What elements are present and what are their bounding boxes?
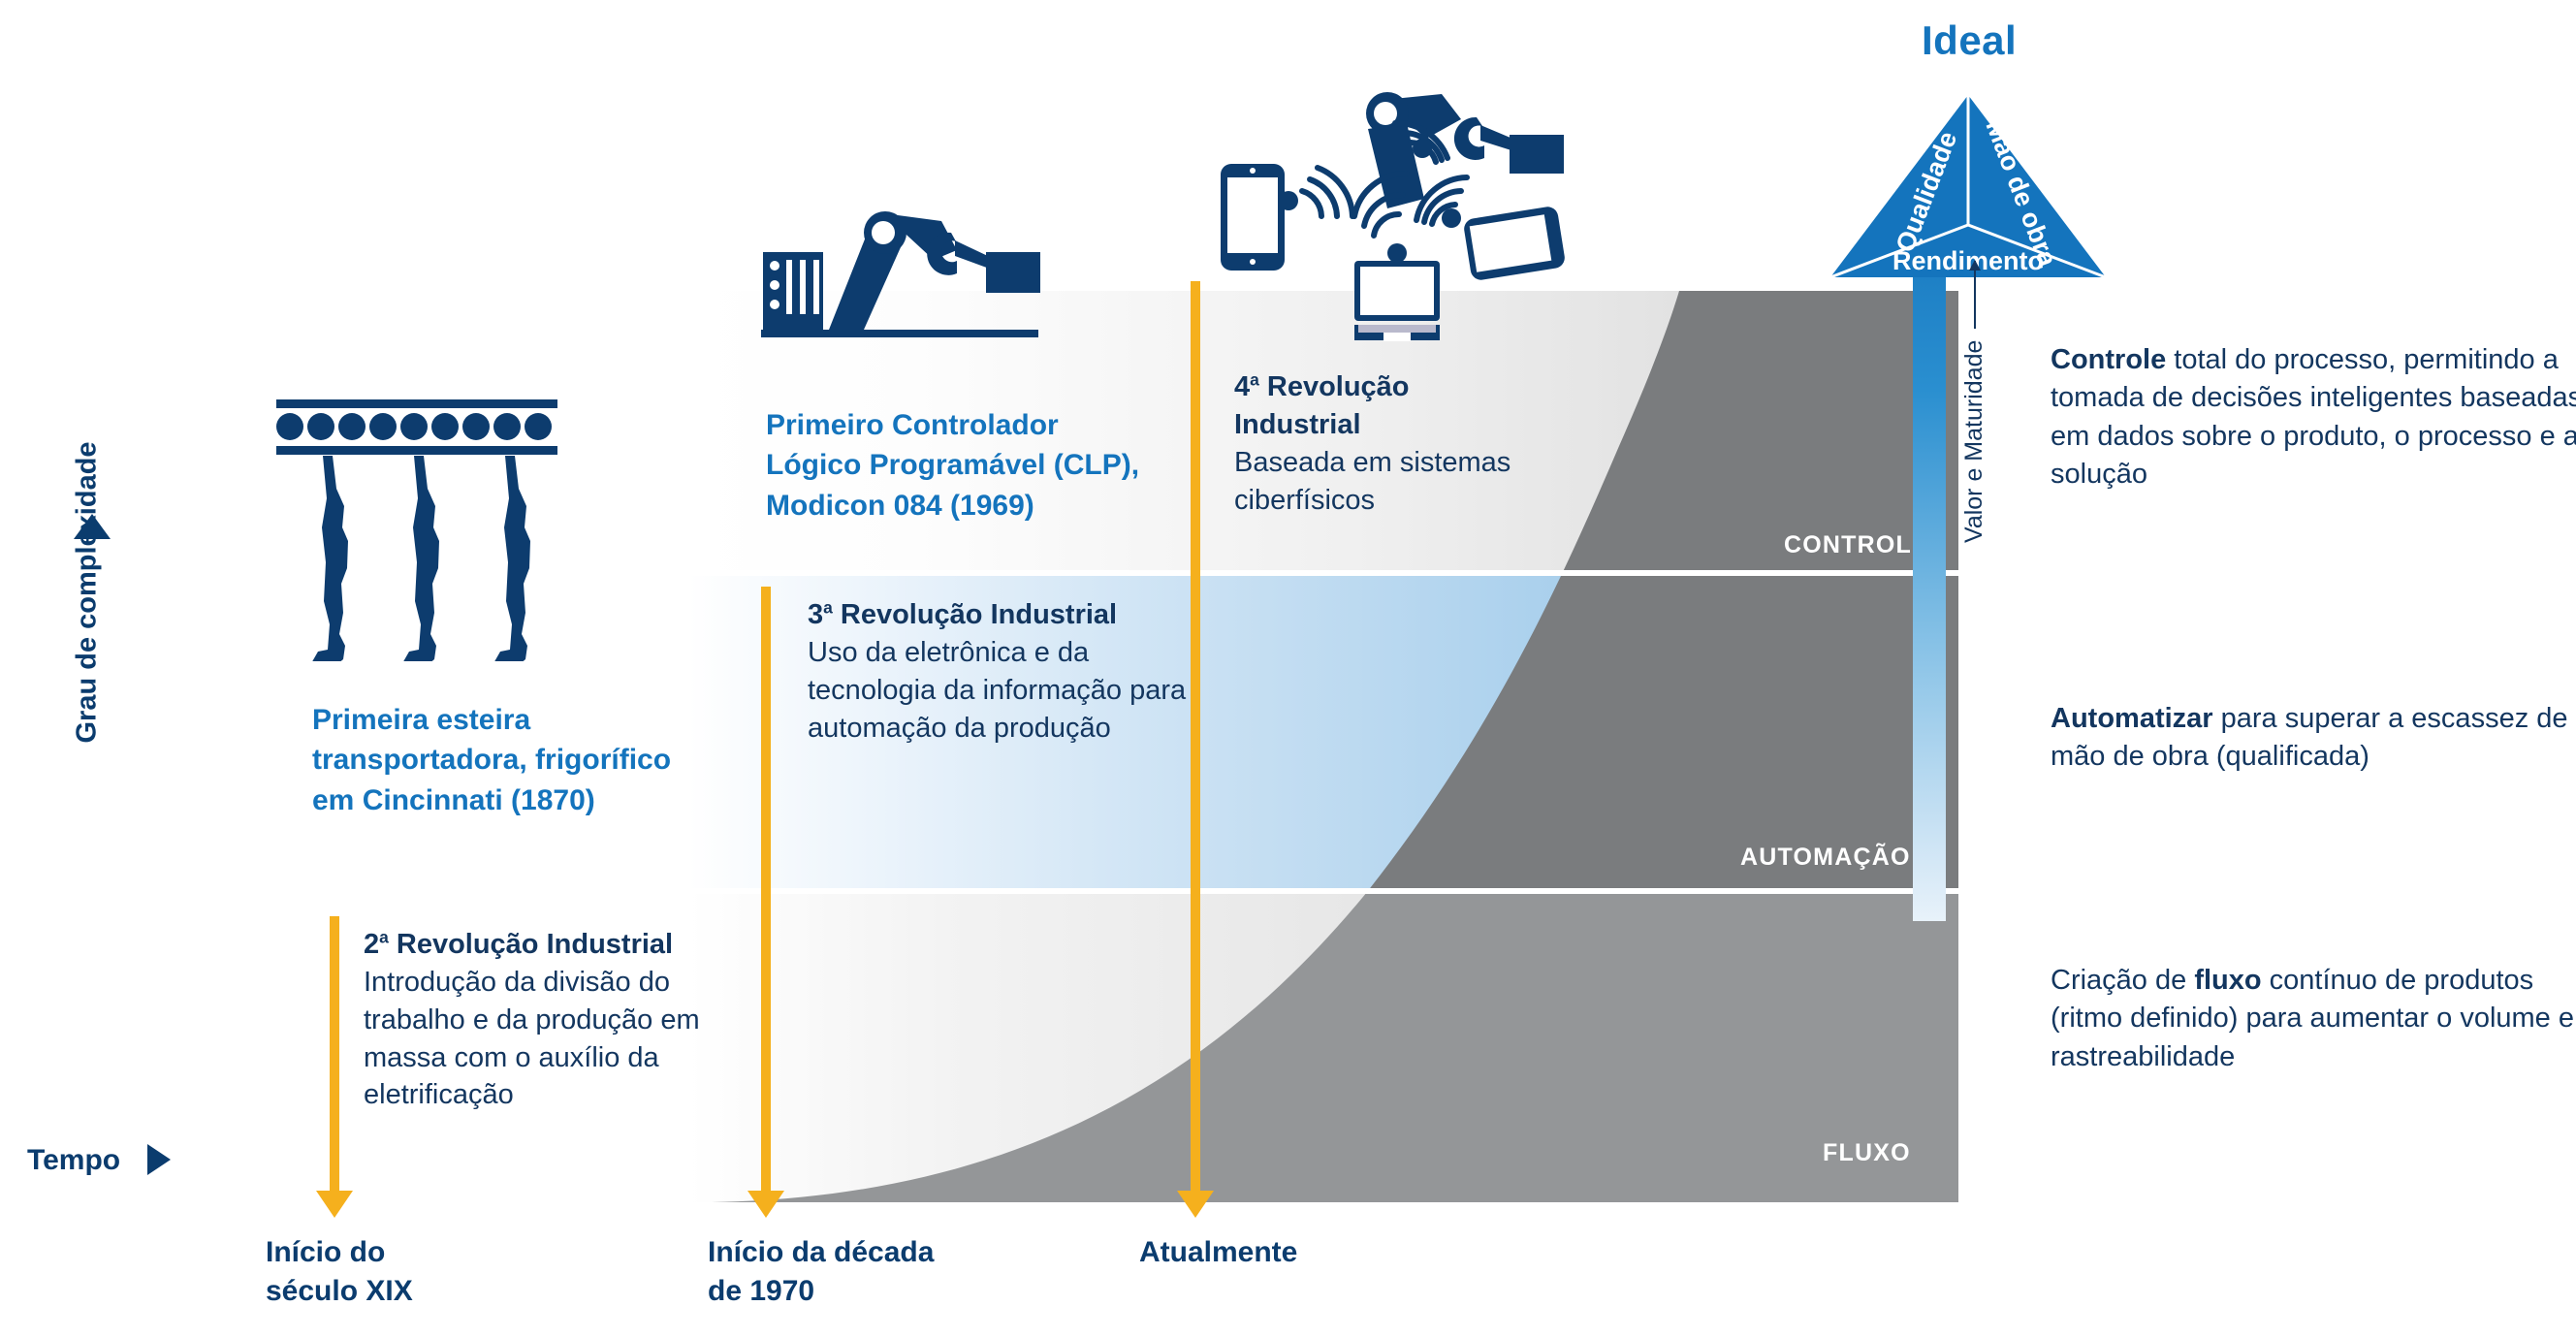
revolution-2-body: Introdução da divisão do trabalho e da p… xyxy=(364,967,700,1111)
timeline-arrow-2 xyxy=(761,587,771,1193)
revolution-3-title: 3a Revolução Industrial xyxy=(808,596,1205,634)
milestone-1-line3: em Cincinnati (1870) xyxy=(312,780,739,820)
timeline-arrow-1 xyxy=(330,916,339,1193)
revolution-block-2: 2a Revolução Industrial Introdução da di… xyxy=(364,926,751,1114)
revolution-2-ordinal-sup: a xyxy=(379,927,389,946)
hanging-carcass-conveyor-icon xyxy=(276,399,557,661)
benefit-fluxo: Criação de fluxo contínuo de produtos (r… xyxy=(2051,962,2576,1076)
revolution-4-ordinal-sup: a xyxy=(1250,369,1259,389)
benefit-controle: Controle total do processo, permitindo a… xyxy=(2051,341,2576,494)
revolution-2-ordinal: 2 xyxy=(364,929,379,960)
benefit-fluxo-keyword: fluxo xyxy=(2194,965,2261,996)
timeline-caption-2: Início da década de 1970 xyxy=(708,1233,934,1310)
revolution-block-3: 3a Revolução Industrial Uso da eletrônic… xyxy=(808,596,1205,747)
infographic-canvas: CONTROLE AUTOMAÇÃO FLUXO Grau de complex… xyxy=(0,0,2576,1338)
shaft-label: Valor e Maturidade xyxy=(1960,155,1988,543)
milestone-2-line2: Lógico Programável (CLP), xyxy=(766,445,1202,485)
shaft-label-arrow-icon xyxy=(1974,261,1976,329)
timeline-caption-1: Início do século XIX xyxy=(266,1233,413,1310)
revolution-3-ordinal: 3 xyxy=(808,599,823,630)
revolution-block-4: 4a Revolução Industrial Baseada em siste… xyxy=(1234,368,1612,519)
shaft-label-text: Valor e Maturidade xyxy=(1960,340,1988,543)
timeline-caption-1-line2: século XIX xyxy=(266,1272,413,1311)
revolution-4-body: Baseada em sistemas ciberfísicos xyxy=(1234,447,1511,516)
revolution-3-ordinal-sup: a xyxy=(823,597,833,617)
revolution-4-title: 4a Revolução Industrial xyxy=(1234,368,1612,444)
timeline-caption-3-line1: Atualmente xyxy=(1139,1233,1297,1272)
milestone-2-line3: Modicon 084 (1969) xyxy=(766,486,1202,526)
revolution-2-title-text: Revolução Industrial xyxy=(389,929,673,960)
milestone-2-line1: Primeiro Controlador xyxy=(766,405,1202,445)
revolution-2-title: 2a Revolução Industrial xyxy=(364,926,751,964)
milestone-caption-conveyor: Primeira esteira transportadora, frigorí… xyxy=(312,700,739,820)
benefit-automacao: Automatizar para superar a escassez de m… xyxy=(2051,700,2576,777)
benefit-fluxo-pre: Criação de xyxy=(2051,965,2194,996)
ideal-title: Ideal xyxy=(1922,17,2017,64)
stage-label-fluxo: FLUXO xyxy=(1823,1139,1911,1167)
timeline-caption-2-line1: Início da década xyxy=(708,1233,934,1272)
timeline-caption-1-line1: Início do xyxy=(266,1233,413,1272)
y-axis-label: Grau de complexidade xyxy=(72,453,104,744)
robot-arm-icon xyxy=(761,206,1052,361)
x-axis-label: Tempo xyxy=(27,1144,120,1177)
iot-cyber-physical-icon xyxy=(1217,82,1605,346)
revolution-4-title-text: Revolução Industrial xyxy=(1234,371,1410,440)
milestone-caption-plc: Primeiro Controlador Lógico Programável … xyxy=(766,405,1202,526)
timeline-caption-3: Atualmente xyxy=(1139,1233,1297,1272)
revolution-3-body: Uso da eletrônica e da tecnologia da inf… xyxy=(808,637,1186,744)
shaft-label-wrap: Valor e Maturidade xyxy=(1960,155,1999,543)
x-axis-arrow-icon xyxy=(147,1144,171,1175)
milestone-1-line2: transportadora, frigorífico xyxy=(312,740,739,780)
timeline-caption-2-line2: de 1970 xyxy=(708,1272,934,1311)
revolution-4-ordinal: 4 xyxy=(1234,371,1250,402)
revolution-3-title-text: Revolução Industrial xyxy=(833,599,1117,630)
milestone-1-line1: Primeira esteira xyxy=(312,700,739,740)
